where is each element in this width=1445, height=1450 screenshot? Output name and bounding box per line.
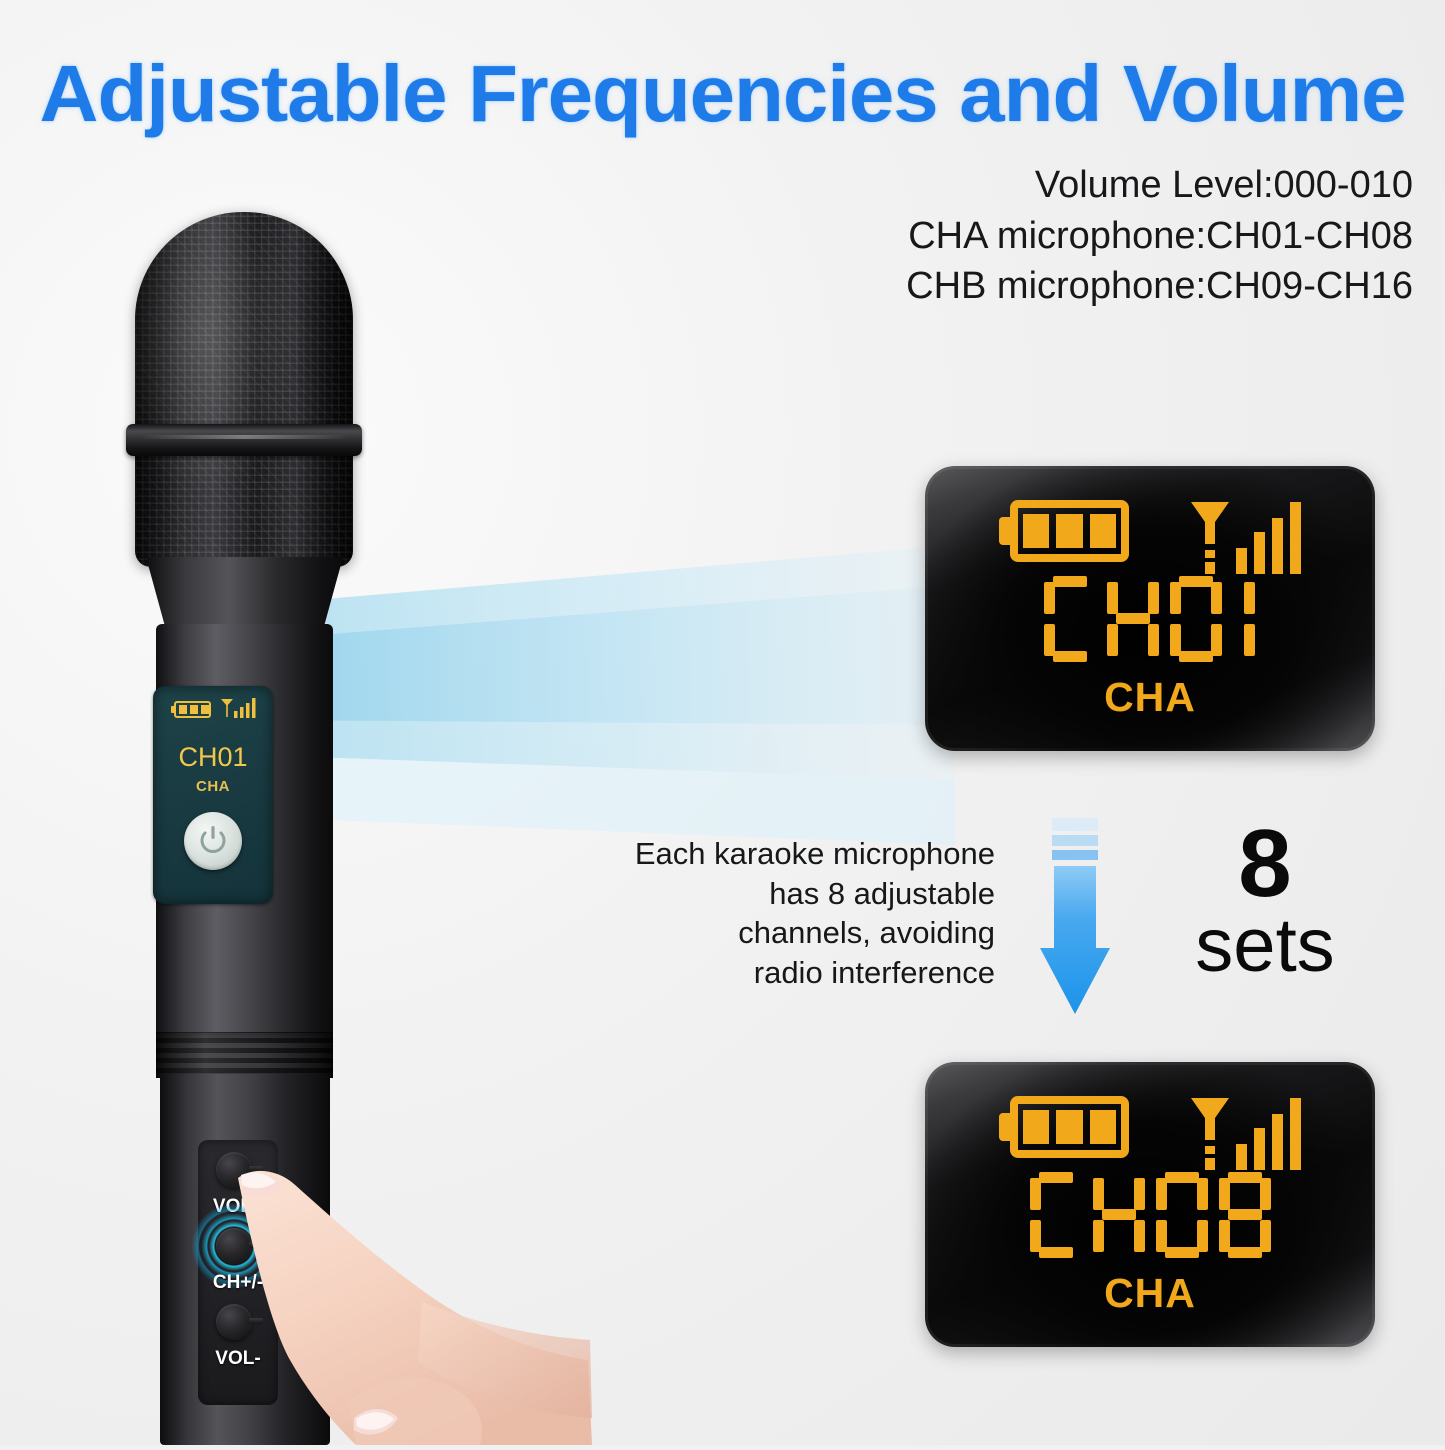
signal-bars-icon — [220, 698, 256, 718]
mesh-shading — [135, 212, 353, 567]
mic-band-label: CHA — [153, 778, 273, 795]
caption-line-1: Each karaoke microphone — [600, 834, 995, 874]
seg-char-1 — [1233, 576, 1257, 662]
lcd-bottom-status-icons — [925, 1096, 1375, 1170]
power-button[interactable] — [184, 812, 242, 870]
seg-char-H — [1093, 1172, 1145, 1258]
battery-icon — [999, 1096, 1129, 1158]
lcd-top-band-label: CHA — [925, 674, 1375, 721]
signal-bars-icon — [1189, 500, 1301, 574]
spec-cha-range: CHA microphone:CH01-CH08 — [813, 211, 1413, 262]
seg-char-0 — [1170, 576, 1222, 662]
pointing-hand — [236, 1170, 596, 1445]
seg-char-0 — [1156, 1172, 1208, 1258]
lcd-bottom-band-label: CHA — [925, 1270, 1375, 1317]
mic-display-icons — [153, 698, 273, 718]
spec-list: Volume Level:000-010 CHA microphone:CH01… — [813, 160, 1413, 312]
mic-channel-value: CH01 — [153, 742, 273, 773]
sets-number: 8 — [1150, 820, 1380, 908]
seg-char-8 — [1219, 1172, 1271, 1258]
mic-display-panel: CH01 CHA — [153, 686, 273, 904]
feature-caption: Each karaoke microphone has 8 adjustable… — [600, 834, 995, 993]
power-icon — [199, 826, 227, 856]
mic-thread-ring — [156, 1032, 333, 1078]
lcd-top-status-icons — [925, 500, 1375, 574]
lcd-top-channel — [925, 576, 1375, 662]
infographic-canvas: Adjustable Frequencies and Volume Volume… — [0, 0, 1445, 1445]
sets-word: sets — [1150, 910, 1380, 982]
caption-line-2: has 8 adjustable — [600, 874, 995, 914]
spec-chb-range: CHB microphone:CH09-CH16 — [813, 261, 1413, 312]
battery-icon — [999, 500, 1129, 562]
caption-line-3: channels, avoiding — [600, 913, 995, 953]
lcd-bottom-channel — [925, 1172, 1375, 1258]
mic-head-band — [126, 424, 362, 456]
page-title: Adjustable Frequencies and Volume — [0, 48, 1445, 140]
seg-char-C — [1044, 576, 1096, 662]
mic-grille — [135, 212, 353, 567]
seg-char-C — [1030, 1172, 1082, 1258]
battery-icon — [171, 701, 211, 718]
sets-badge: 8 sets — [1150, 820, 1380, 983]
caption-line-4: radio interference — [600, 953, 995, 993]
down-arrow-icon — [1040, 818, 1110, 1038]
seg-char-H — [1107, 576, 1159, 662]
signal-bars-icon — [1189, 1096, 1301, 1170]
lcd-display-top: CHA — [925, 466, 1375, 751]
spec-volume-level: Volume Level:000-010 — [813, 160, 1413, 211]
lcd-display-bottom: CHA — [925, 1062, 1375, 1347]
mic-neck — [146, 557, 343, 629]
